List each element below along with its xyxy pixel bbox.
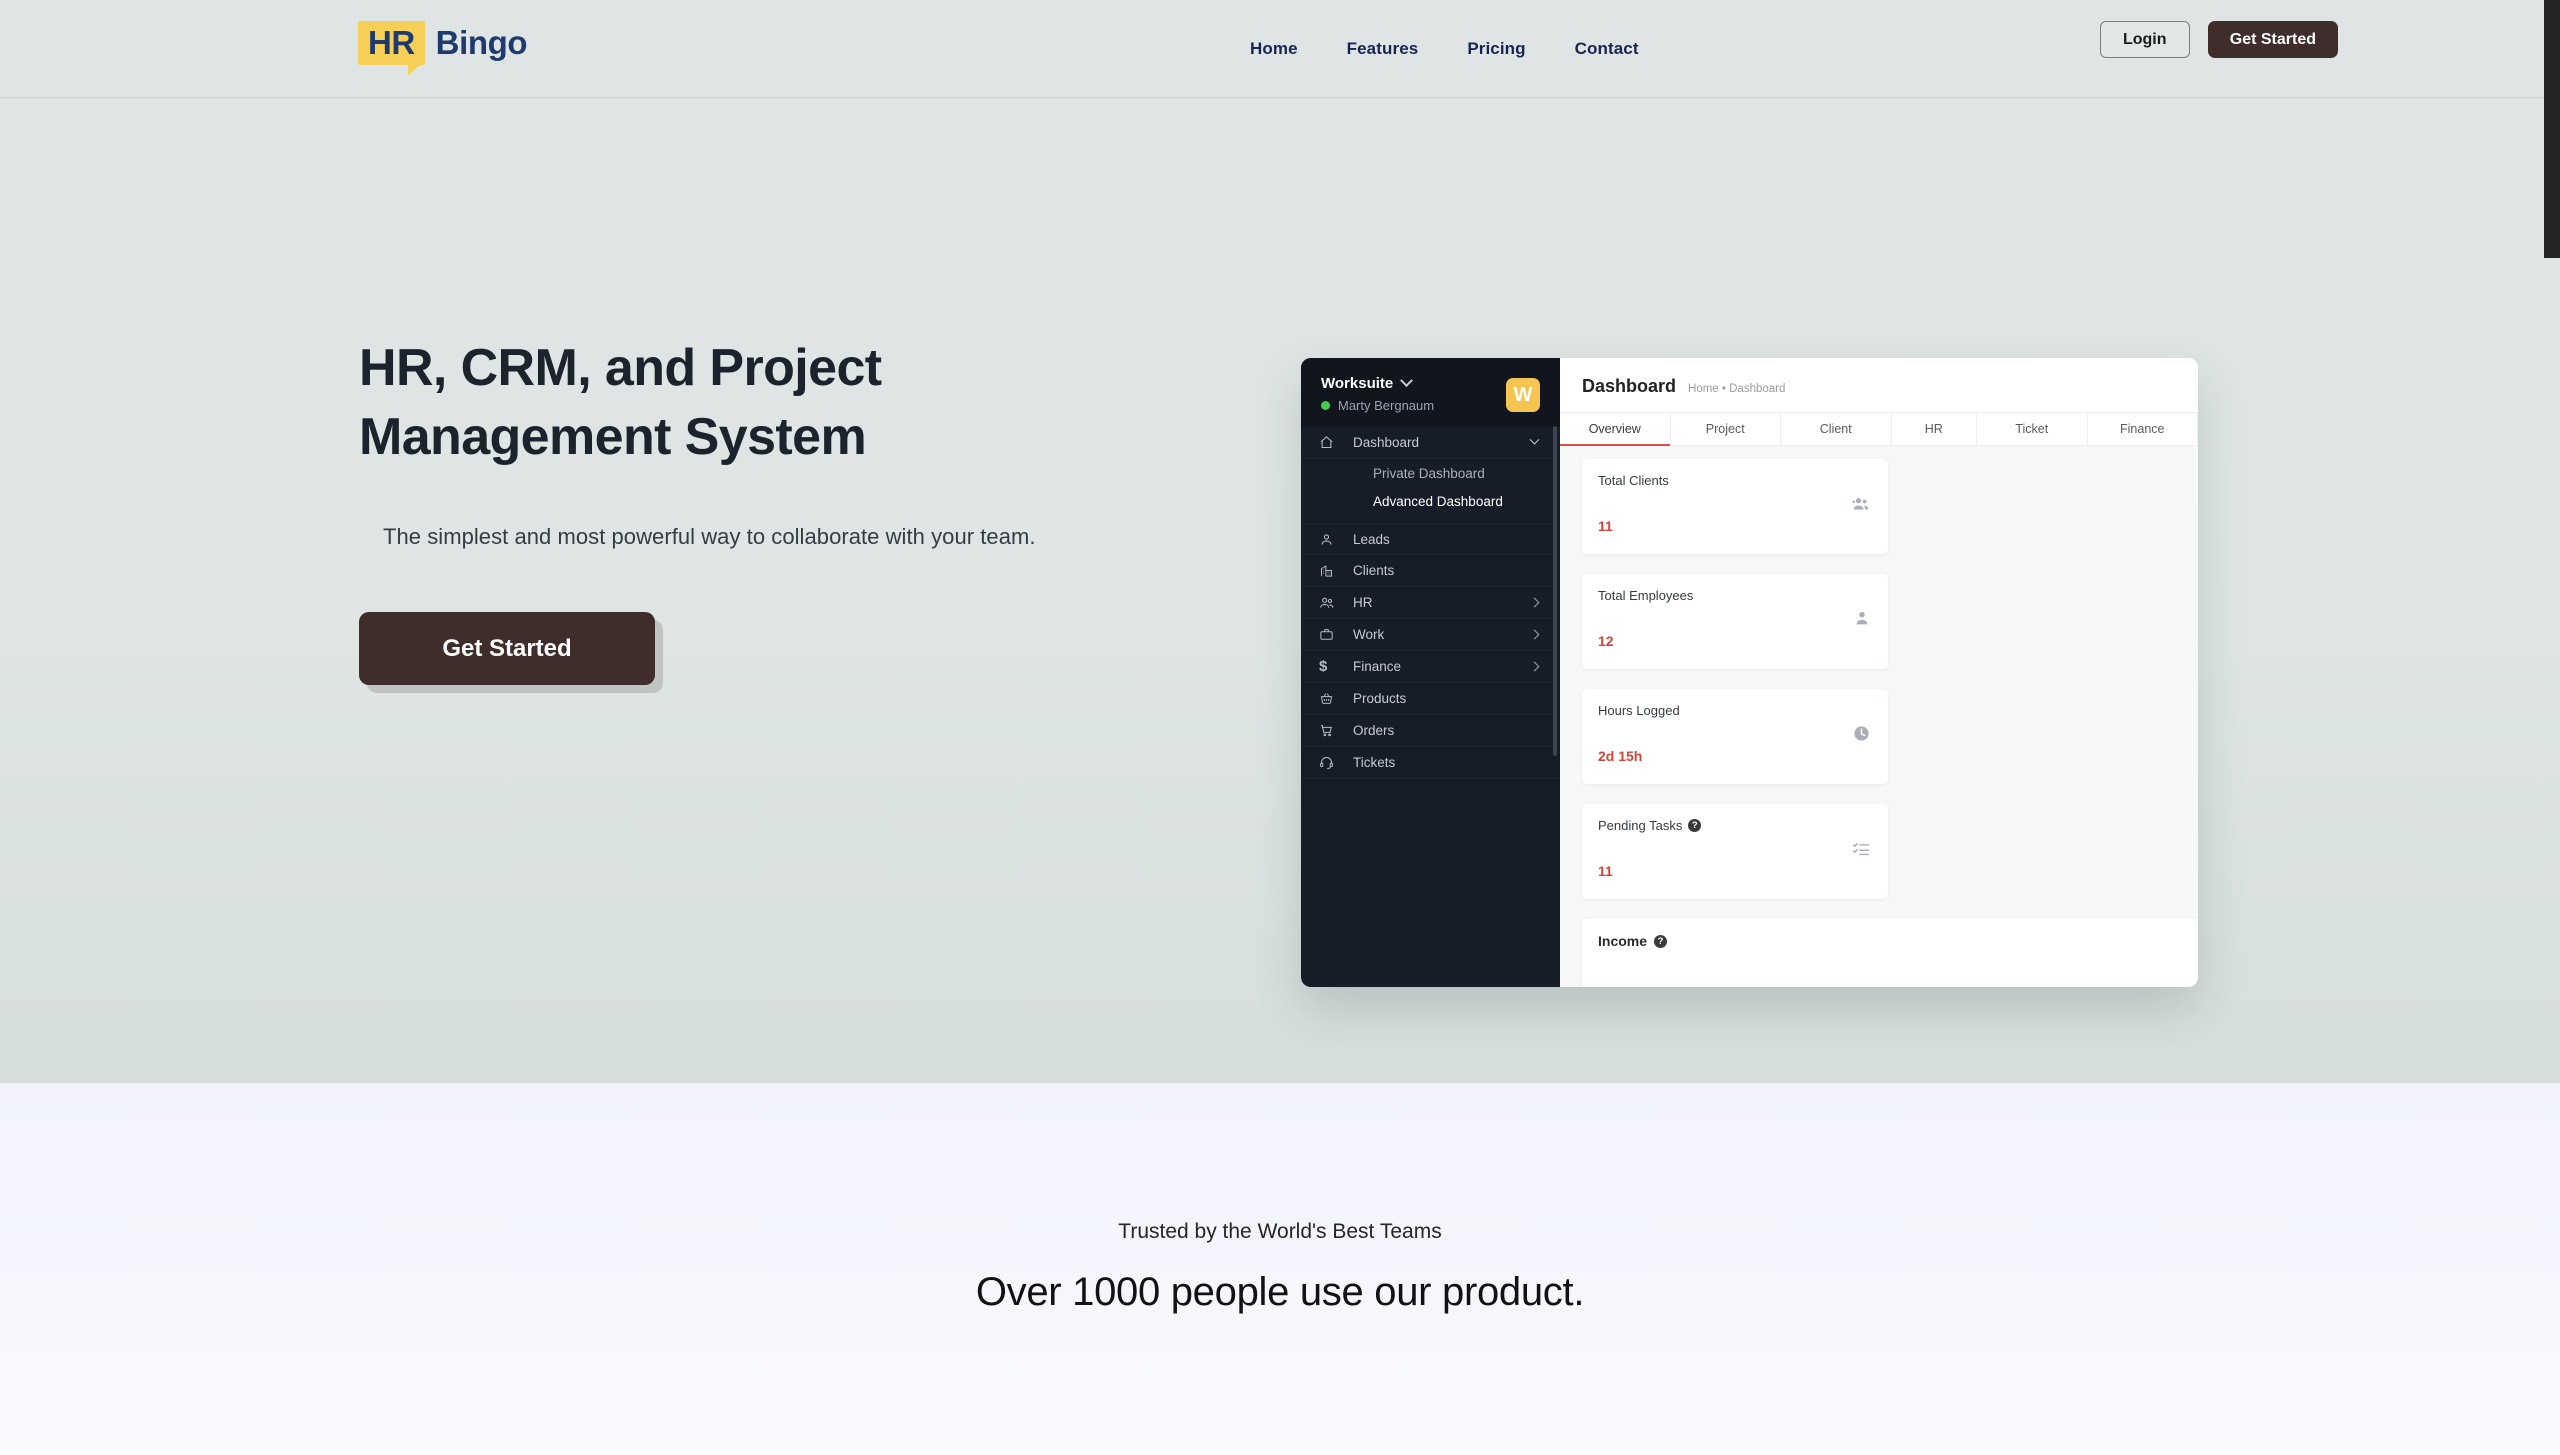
clock-icon xyxy=(1852,724,1871,748)
stat-cards: Total Clients 11 Total Employees 12 xyxy=(1582,459,2198,899)
mockup-topbar: Dashboard Home • Dashboard xyxy=(1560,358,2198,412)
chart-plot-area: 60000 40000 xyxy=(1598,965,2198,987)
sidebar-scrollbar[interactable] xyxy=(1553,426,1557,756)
mockup-sidebar: Worksuite Marty Bergnaum W Dashboard xyxy=(1301,358,1560,987)
checklist-icon xyxy=(1851,839,1871,864)
nav-item-pricing[interactable]: Pricing xyxy=(1467,39,1525,59)
stat-card-value: 11 xyxy=(1598,863,1613,879)
dollar-icon: $ xyxy=(1319,658,1353,675)
people-icon xyxy=(1319,595,1353,611)
sidebar-item-finance[interactable]: $ Finance xyxy=(1301,651,1560,683)
briefcase-icon xyxy=(1319,627,1353,642)
hero-title-line1: HR, CRM, and Project xyxy=(359,339,882,397)
sidebar-item-leads[interactable]: Leads xyxy=(1301,523,1560,555)
header-get-started-button[interactable]: Get Started xyxy=(2208,21,2338,58)
tab-client[interactable]: Client xyxy=(1781,413,1892,445)
online-status-dot xyxy=(1321,401,1330,410)
stat-card-pending-tasks[interactable]: Pending Tasks ? 11 xyxy=(1582,804,1888,899)
help-icon[interactable]: ? xyxy=(1688,819,1701,832)
dashboard-mockup: Worksuite Marty Bergnaum W Dashboard xyxy=(1301,358,2198,987)
sidebar-item-label: HR xyxy=(1353,595,1373,610)
stat-card-label-text: Hours Logged xyxy=(1598,703,1680,718)
page-title: Dashboard xyxy=(1582,376,1676,397)
tab-hr[interactable]: HR xyxy=(1892,413,1978,445)
stat-card-total-clients[interactable]: Total Clients 11 xyxy=(1582,459,1888,554)
hero-title: HR, CRM, and Project Management System xyxy=(359,334,1259,472)
brand-logo[interactable]: HR Bingo xyxy=(358,21,527,65)
stat-card-value: 2d 15h xyxy=(1598,748,1642,764)
tab-project[interactable]: Project xyxy=(1671,413,1782,445)
tab-overview[interactable]: Overview xyxy=(1560,413,1671,445)
mockup-tabs: Overview Project Client HR Ticket Financ… xyxy=(1560,412,2198,446)
hero-section: HR, CRM, and Project Management System T… xyxy=(0,99,2560,1083)
stat-card-label-text: Total Clients xyxy=(1598,473,1669,488)
chart-title-text: Income xyxy=(1598,933,1647,949)
sidebar-item-tickets[interactable]: Tickets xyxy=(1301,747,1560,779)
sidebar-item-label: Orders xyxy=(1353,723,1394,738)
hero-subtitle: The simplest and most powerful way to co… xyxy=(383,524,1259,550)
landing-page: HR Bingo Home Features Pricing Contact L… xyxy=(0,0,2560,1455)
stat-card-label: Total Clients xyxy=(1598,473,1872,488)
sidebar-item-label: Finance xyxy=(1353,659,1401,674)
nav-item-contact[interactable]: Contact xyxy=(1575,39,1639,59)
stat-card-label: Pending Tasks ? xyxy=(1598,818,1872,833)
sidebar-user-name: Marty Bergnaum xyxy=(1338,398,1434,413)
page-scrollbar[interactable] xyxy=(2544,0,2560,258)
stat-card-label-text: Pending Tasks xyxy=(1598,818,1682,833)
group-icon xyxy=(1851,494,1871,519)
chevron-right-icon xyxy=(1530,630,1540,640)
header-actions: Login Get Started xyxy=(2100,21,2338,58)
site-header: HR Bingo Home Features Pricing Contact L… xyxy=(0,0,2560,98)
sidebar-item-clients[interactable]: Clients xyxy=(1301,555,1560,587)
sidebar-item-dashboard[interactable]: Dashboard xyxy=(1301,427,1560,459)
breadcrumb: Home • Dashboard xyxy=(1688,383,1785,395)
sidebar-item-label: Advanced Dashboard xyxy=(1373,494,1503,509)
tab-ticket[interactable]: Ticket xyxy=(1977,413,2088,445)
sidebar-item-hr[interactable]: HR xyxy=(1301,587,1560,619)
chevron-right-icon xyxy=(1530,662,1540,672)
sidebar-item-label: Products xyxy=(1353,691,1406,706)
home-icon xyxy=(1319,435,1353,450)
nav-item-features[interactable]: Features xyxy=(1347,39,1419,59)
stat-card-label: Total Employees xyxy=(1598,588,1872,603)
hero-copy: HR, CRM, and Project Management System T… xyxy=(359,334,1259,685)
sidebar-item-label: Dashboard xyxy=(1353,435,1419,450)
sidebar-item-work[interactable]: Work xyxy=(1301,619,1560,651)
chart-title: Income ? xyxy=(1598,933,2198,949)
income-chart-card: Income ? 60000 40000 xyxy=(1582,919,2198,987)
stat-card-hours-logged[interactable]: Hours Logged 2d 15h xyxy=(1582,689,1888,784)
trusted-kicker: Trusted by the World's Best Teams xyxy=(0,1220,2560,1244)
sidebar-item-orders[interactable]: Orders xyxy=(1301,715,1560,747)
login-button[interactable]: Login xyxy=(2100,21,2190,58)
chevron-down-icon xyxy=(1530,435,1540,445)
stat-card-total-employees[interactable]: Total Employees 12 xyxy=(1582,574,1888,669)
nav-item-home[interactable]: Home xyxy=(1250,39,1298,59)
person-icon xyxy=(1853,609,1871,632)
trusted-section: Trusted by the World's Best Teams Over 1… xyxy=(0,1083,2560,1455)
sidebar-item-advanced-dashboard[interactable]: Advanced Dashboard xyxy=(1301,487,1560,515)
chevron-down-icon xyxy=(1400,374,1413,387)
stat-card-value: 12 xyxy=(1598,633,1614,649)
sidebar-item-label: Tickets xyxy=(1353,755,1395,770)
workspace-logo: W xyxy=(1506,378,1540,412)
sidebar-header: Worksuite Marty Bergnaum W xyxy=(1301,358,1560,427)
hero-get-started-button[interactable]: Get Started xyxy=(359,612,655,685)
user-icon xyxy=(1319,532,1353,547)
brand-word: Bingo xyxy=(436,24,527,62)
trusted-headline: Over 1000 people use our product. xyxy=(0,1270,2560,1315)
sidebar-item-label: Private Dashboard xyxy=(1373,466,1485,481)
cart-icon xyxy=(1319,723,1353,738)
building-icon xyxy=(1319,563,1353,578)
tab-finance[interactable]: Finance xyxy=(2088,413,2198,445)
help-icon[interactable]: ? xyxy=(1654,935,1667,948)
main-nav: Home Features Pricing Contact xyxy=(1250,0,1639,98)
mockup-main: Dashboard Home • Dashboard Overview Proj… xyxy=(1560,358,2198,987)
brand-badge: HR xyxy=(358,21,425,65)
sidebar-item-products[interactable]: Products xyxy=(1301,683,1560,715)
basket-icon xyxy=(1319,691,1353,706)
stat-card-label: Hours Logged xyxy=(1598,703,1872,718)
hero-title-line2: Management System xyxy=(359,408,866,466)
sidebar-item-label: Clients xyxy=(1353,563,1394,578)
stat-card-label-text: Total Employees xyxy=(1598,588,1693,603)
sidebar-item-private-dashboard[interactable]: Private Dashboard xyxy=(1301,459,1560,487)
stat-card-value: 11 xyxy=(1598,518,1613,534)
sidebar-item-label: Work xyxy=(1353,627,1384,642)
chevron-right-icon xyxy=(1530,598,1540,608)
mockup-body: Total Clients 11 Total Employees 12 xyxy=(1560,446,2198,987)
workspace-name: Worksuite xyxy=(1321,375,1393,392)
headset-icon xyxy=(1319,755,1353,770)
sidebar-item-label: Leads xyxy=(1353,532,1390,547)
